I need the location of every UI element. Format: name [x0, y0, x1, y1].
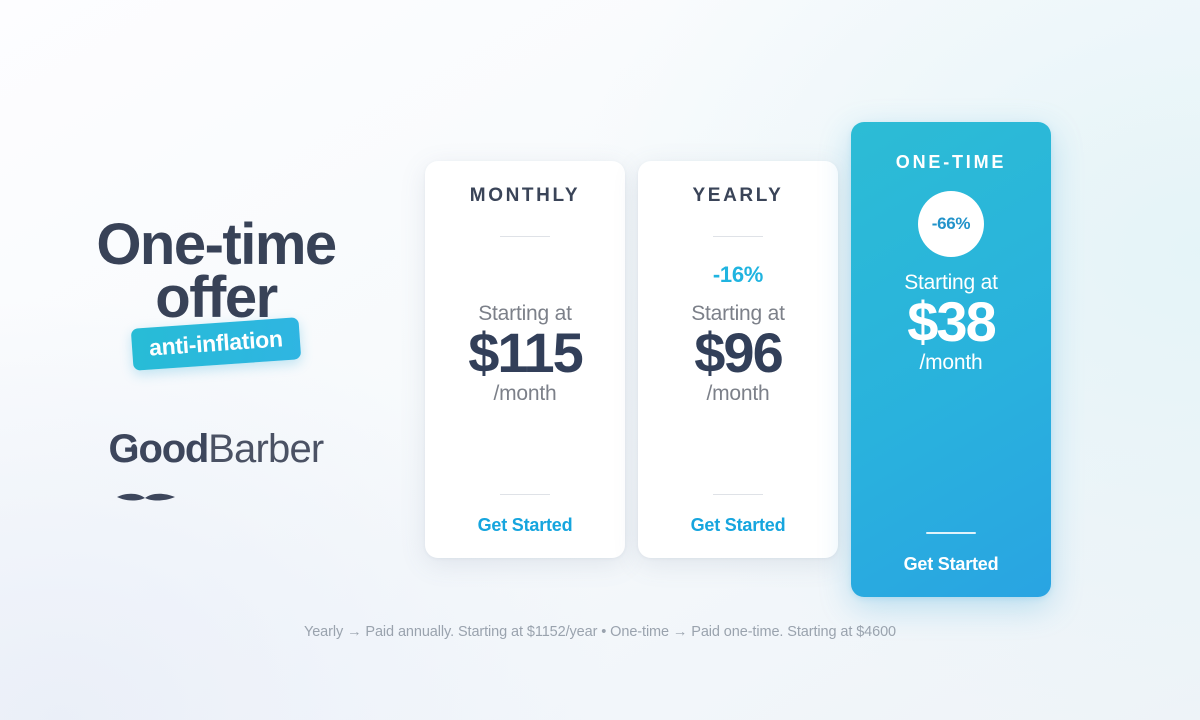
pricing-page: One-time offer anti-inflation Good Barbe…: [0, 0, 1200, 720]
card-divider-bottom: [713, 494, 763, 495]
pricing-card-one-time[interactable]: ONE-TIME -66% Starting at $38 /month Get…: [851, 122, 1051, 597]
period-yearly: /month: [707, 382, 770, 406]
get-started-button-one-time[interactable]: Get Started: [904, 554, 999, 575]
promo-badge-wrapper: anti-inflation: [0, 319, 420, 365]
headline-line-2: offer: [12, 271, 420, 324]
discount-badge-one-time: -66%: [918, 191, 984, 257]
logo-barber-label: Barber: [208, 427, 323, 472]
card-divider-top: [713, 236, 763, 237]
get-started-button-yearly[interactable]: Get Started: [691, 515, 786, 536]
card-divider-bottom: [500, 494, 550, 495]
price-monthly: $115: [468, 324, 582, 381]
headline-line-1: One-time: [12, 218, 420, 271]
pricing-card-monthly[interactable]: MONTHLY Starting at $115 /month Get Star…: [425, 161, 625, 558]
plan-title-yearly: YEARLY: [693, 185, 784, 207]
plan-title-one-time: ONE-TIME: [896, 152, 1006, 173]
anti-inflation-badge: anti-inflation: [131, 317, 301, 371]
period-one-time: /month: [920, 351, 983, 375]
logo-eye-right: [155, 444, 161, 453]
price-one-time: $38: [907, 293, 994, 350]
price-yearly: $96: [694, 324, 781, 381]
discount-badge-yearly: -16%: [713, 262, 763, 288]
promo-block: One-time offer anti-inflation Good Barbe…: [0, 218, 420, 472]
logo-eye-left: [131, 444, 137, 453]
page-title: One-time offer: [0, 218, 420, 325]
card-divider-top: [500, 236, 550, 237]
plan-title-monthly: MONTHLY: [470, 185, 580, 207]
logo-mustache-icon: [117, 468, 175, 480]
pricing-cards: MONTHLY Starting at $115 /month Get Star…: [425, 122, 1051, 597]
logo-eyes-icon: [129, 444, 173, 454]
pricing-footnote: Yearly → Paid annually. Starting at $115…: [0, 624, 1200, 640]
pricing-card-yearly[interactable]: YEARLY -16% Starting at $96 /month Get S…: [638, 161, 838, 558]
card-divider-bottom: [926, 532, 976, 534]
get-started-button-monthly[interactable]: Get Started: [478, 515, 573, 536]
goodbarber-logo: Good Barber: [0, 427, 420, 472]
logo-good-text: Good: [109, 427, 209, 472]
period-monthly: /month: [494, 382, 557, 406]
